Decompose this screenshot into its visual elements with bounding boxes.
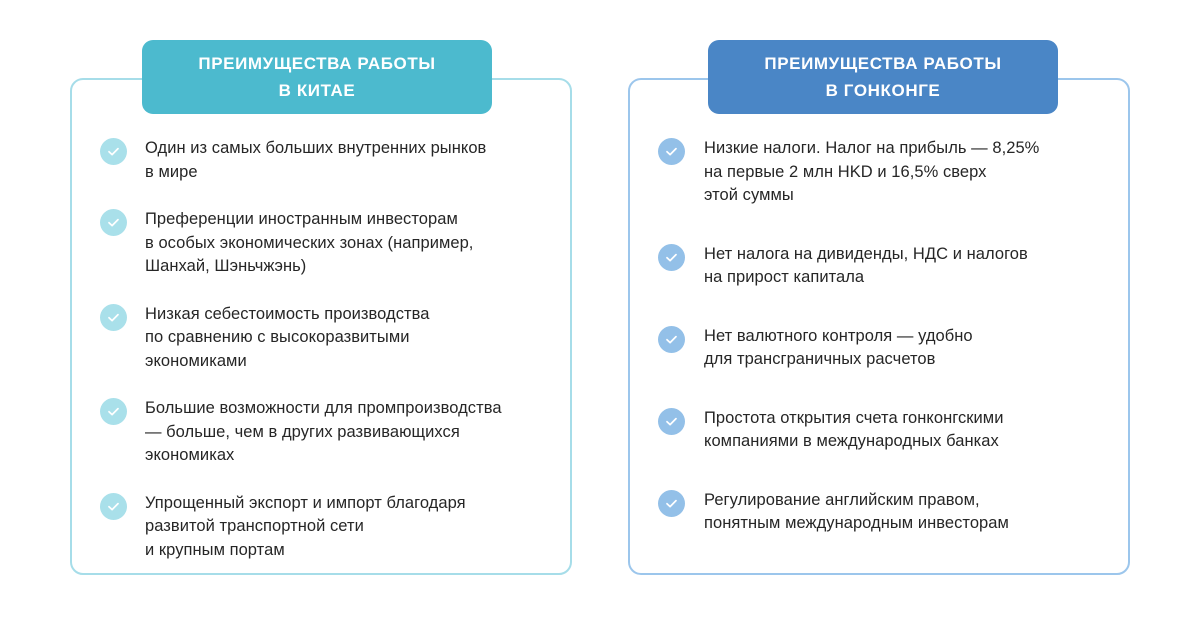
check-icon [100, 493, 127, 520]
list-item: Один из самых больших внутренних рынков … [100, 137, 560, 184]
check-icon [658, 244, 685, 271]
check-icon [658, 138, 685, 165]
list-item: Преференции иностранным инвесторам в осо… [100, 208, 560, 279]
list-item-text: Низкие налоги. Налог на прибыль — 8,25% … [704, 137, 1039, 208]
check-icon [658, 326, 685, 353]
list-item-text: Преференции иностранным инвесторам в осо… [145, 208, 473, 279]
check-icon [100, 304, 127, 331]
check-icon [658, 408, 685, 435]
list-item-text: Большие возможности для промпроизводства… [145, 397, 502, 468]
card-hongkong-title-line1: ПРЕИМУЩЕСТВА РАБОТЫ [764, 50, 1001, 77]
list-item-text: Нет налога на дивиденды, НДС и налогов н… [704, 243, 1028, 290]
benefits-list-hongkong: Низкие налоги. Налог на прибыль — 8,25% … [658, 137, 1128, 571]
list-item: Нет налога на дивиденды, НДС и налогов н… [658, 243, 1128, 290]
check-icon [100, 138, 127, 165]
list-item-text: Упрощенный экспорт и импорт благодаря ра… [145, 492, 466, 563]
list-item-text: Низкая себестоимость производства по сра… [145, 303, 430, 374]
card-hongkong-title-line2: В ГОНКОНГЕ [764, 77, 1001, 104]
card-china-title-line1: ПРЕИМУЩЕСТВА РАБОТЫ [198, 50, 435, 77]
check-icon [100, 398, 127, 425]
check-icon [658, 490, 685, 517]
list-item: Нет валютного контроля — удобно для тран… [658, 325, 1128, 372]
card-china-title-line2: В КИТАЕ [198, 77, 435, 104]
check-icon [100, 209, 127, 236]
list-item-text: Регулирование английским правом, понятны… [704, 489, 1009, 536]
infographic-root: ПРЕИМУЩЕСТВА РАБОТЫ В КИТАЕ Один из самы… [0, 0, 1200, 620]
list-item: Низкие налоги. Налог на прибыль — 8,25% … [658, 137, 1128, 208]
list-item: Простота открытия счета гонконгскими ком… [658, 407, 1128, 454]
list-item: Большие возможности для промпроизводства… [100, 397, 560, 468]
card-hongkong-header: ПРЕИМУЩЕСТВА РАБОТЫ В ГОНКОНГЕ [708, 40, 1058, 114]
benefits-list-china: Один из самых больших внутренних рынков … [100, 137, 560, 586]
list-item: Упрощенный экспорт и импорт благодаря ра… [100, 492, 560, 563]
list-item-text: Нет валютного контроля — удобно для тран… [704, 325, 973, 372]
card-china-header: ПРЕИМУЩЕСТВА РАБОТЫ В КИТАЕ [142, 40, 492, 114]
list-item: Низкая себестоимость производства по сра… [100, 303, 560, 374]
list-item-text: Один из самых больших внутренних рынков … [145, 137, 486, 184]
list-item-text: Простота открытия счета гонконгскими ком… [704, 407, 1003, 454]
list-item: Регулирование английским правом, понятны… [658, 489, 1128, 536]
